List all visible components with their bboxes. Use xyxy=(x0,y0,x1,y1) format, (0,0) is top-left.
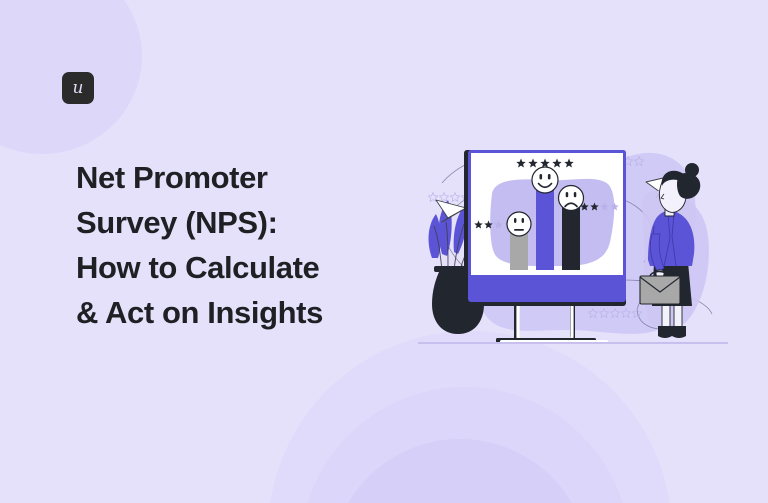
poster-canvas: u Net Promoter Survey (NPS): How to Calc… xyxy=(0,0,768,503)
page-title: Net Promoter Survey (NPS): How to Calcul… xyxy=(76,155,396,335)
handbag xyxy=(640,272,680,305)
background-ring-inner xyxy=(330,439,590,503)
neutral-face-icon xyxy=(507,212,531,236)
bar-promoters xyxy=(536,188,554,270)
sad-face-icon xyxy=(559,186,584,211)
bar-passives xyxy=(562,206,580,270)
nps-survey-illustration xyxy=(418,130,728,370)
background-ring-middle xyxy=(300,387,630,503)
happy-face-icon xyxy=(532,167,558,193)
brand-logo: u xyxy=(62,72,94,104)
bar-detractors xyxy=(510,231,528,270)
logo-letter: u xyxy=(73,80,84,97)
